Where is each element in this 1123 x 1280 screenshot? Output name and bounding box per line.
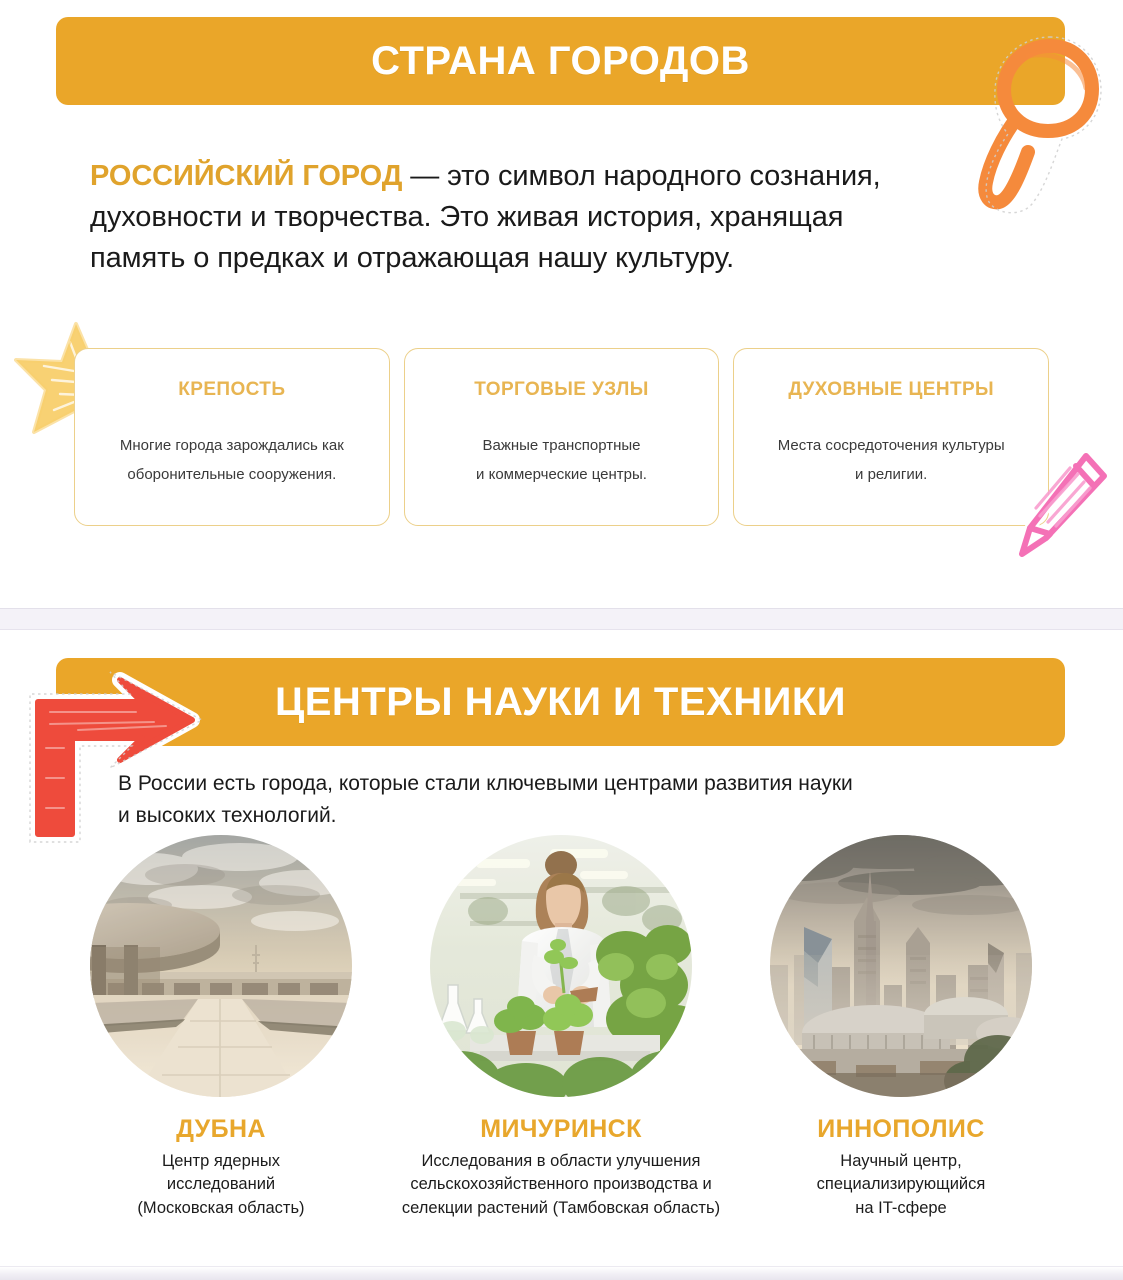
dubna-desc-line2: исследований [56,1173,386,1196]
innopolis-desc-line3: на IT-сфере [736,1197,1066,1220]
innopolis-desc-line2: специализирующийся [736,1173,1066,1196]
city-innopolis: ИННОПОЛИС Научный центр, специализирующи… [736,835,1066,1220]
card-fortress-body: Многие города зарождались как оборонител… [95,431,369,490]
intro-paragraph: РОССИЙСКИЙ ГОРОД — это символ народного … [90,156,920,280]
slide2-intro-line2: и высоких технологий. [118,804,337,827]
card-fortress-line2: оборонительные сооружения. [95,460,369,489]
infographic-page: СТРАНА ГОРОДОВ РОССИЙСКИЙ ГОРОД — это си… [0,0,1123,1280]
innopolis-desc-line1: Научный центр, [736,1150,1066,1173]
intro-highlight: РОССИЙСКИЙ ГОРОД [90,160,402,192]
city-dubna: ДУБНА Центр ядерных исследований (Москов… [56,835,386,1220]
card-trade-hubs-line2: и коммерческие центры. [425,460,699,489]
slide1-title: СТРАНА ГОРОДОВ [371,41,750,81]
michurinsk-desc-line1: Исследования в области улучшения [396,1150,726,1173]
card-trade-hubs: ТОРГОВЫЕ УЗЛЫ Важные транспортные и комм… [404,348,720,526]
michurinsk-desc-line3: селекции растений (Тамбовская область) [396,1197,726,1220]
card-spiritual-centers-title: ДУХОВНЫЕ ЦЕНТРЫ [754,379,1028,401]
slide-country-of-cities: СТРАНА ГОРОДОВ РОССИЙСКИЙ ГОРОД — это си… [0,0,1123,612]
slide2-title: ЦЕНТРЫ НАУКИ И ТЕХНИКИ [275,682,846,722]
card-fortress: КРЕПОСТЬ Многие города зарождались как о… [74,348,390,526]
dubna-desc-line3: (Московская область) [56,1197,386,1220]
michurinsk-desc: Исследования в области улучшения сельско… [396,1150,726,1220]
card-fortress-title: КРЕПОСТЬ [95,379,369,401]
card-fortress-line1: Многие города зарождались как [95,431,369,460]
card-trade-hubs-body: Важные транспортные и коммерческие центр… [425,431,699,490]
innopolis-photo [770,835,1032,1097]
michurinsk-desc-line2: сельскохозяйственного производства и [396,1173,726,1196]
dubna-name: ДУБНА [56,1115,386,1144]
dubna-photo [90,835,352,1097]
innopolis-name: ИННОПОЛИС [736,1115,1066,1144]
slide-science-centers: ЦЕНТРЫ НАУКИ И ТЕХНИКИ В России есть гор… [0,630,1123,1250]
dubna-desc-line1: Центр ядерных [56,1150,386,1173]
michurinsk-name: МИЧУРИНСК [396,1115,726,1144]
card-spiritual-centers-body: Места сосредоточения культуры и религии. [754,431,1028,490]
slide1-banner: СТРАНА ГОРОДОВ [56,17,1065,105]
michurinsk-photo [430,835,692,1097]
slide2-intro-line1: В России есть города, которые стали ключ… [118,772,853,795]
feature-cards: КРЕПОСТЬ Многие города зарождались как о… [74,348,1049,526]
city-michurinsk: МИЧУРИНСК Исследования в области улучшен… [396,835,726,1220]
innopolis-desc: Научный центр, специализирующийся на IT-… [736,1150,1066,1220]
slide2-banner: ЦЕНТРЫ НАУКИ И ТЕХНИКИ [56,658,1065,746]
card-spiritual-centers-line2: и религии. [754,460,1028,489]
slide-divider [0,608,1123,630]
card-trade-hubs-line1: Важные транспортные [425,431,699,460]
city-list: ДУБНА Центр ядерных исследований (Москов… [56,835,1066,1220]
page-bottom-edge [0,1266,1123,1280]
card-spiritual-centers: ДУХОВНЫЕ ЦЕНТРЫ Места сосредоточения кул… [733,348,1049,526]
card-trade-hubs-title: ТОРГОВЫЕ УЗЛЫ [425,379,699,401]
dubna-desc: Центр ядерных исследований (Московская о… [56,1150,386,1220]
slide2-intro: В России есть города, которые стали ключ… [118,768,978,831]
card-spiritual-centers-line1: Места сосредоточения культуры [754,431,1028,460]
